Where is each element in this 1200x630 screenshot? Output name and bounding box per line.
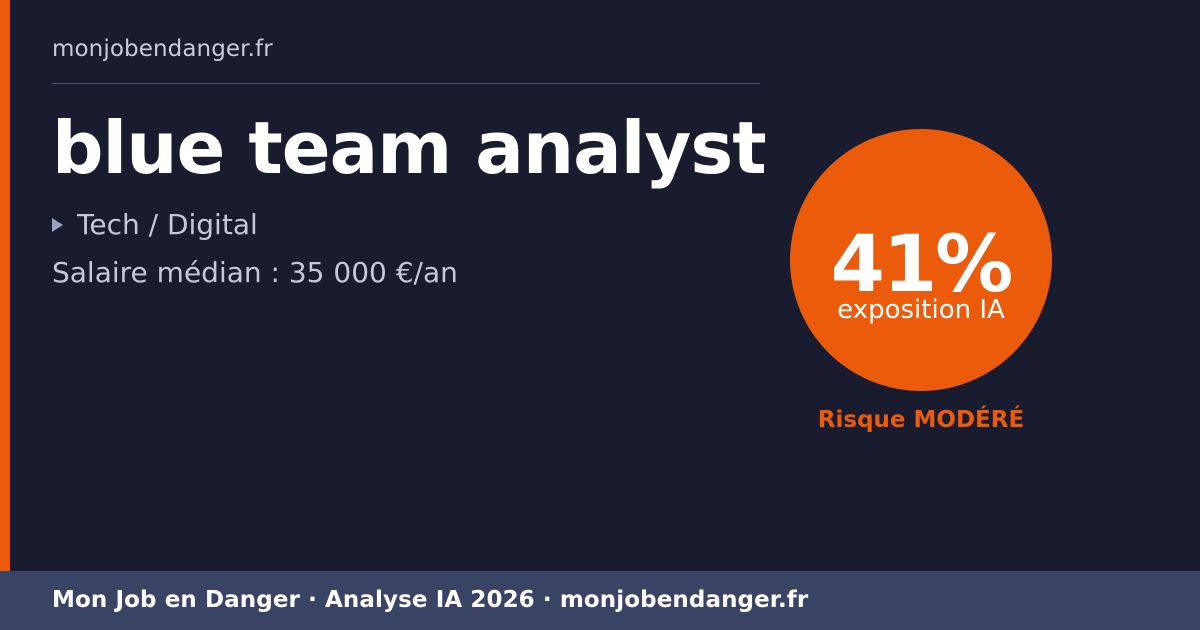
job-sector-label: Tech / Digital xyxy=(77,211,258,239)
card-footer: Mon Job en Danger · Analyse IA 2026 · mo… xyxy=(0,571,1200,630)
risk-percent-caption: exposition IA xyxy=(790,297,1052,323)
left-accent-bar xyxy=(0,0,10,571)
risk-level-badge: Risque MODÉRÉ xyxy=(790,409,1052,432)
caret-right-icon xyxy=(52,218,63,232)
job-sector-row: Tech / Digital xyxy=(52,211,772,239)
risk-percent-value: 41% xyxy=(790,226,1052,304)
risk-gauge-disc: 41% exposition IA xyxy=(790,129,1052,391)
site-domain: monjobendanger.fr xyxy=(52,38,760,61)
footer-credit: Mon Job en Danger · Analyse IA 2026 · mo… xyxy=(52,589,808,612)
share-card: monjobendanger.fr blue team analyst Tech… xyxy=(0,0,1200,630)
header-divider xyxy=(52,83,760,84)
job-summary: blue team analyst Tech / Digital Salaire… xyxy=(52,112,772,287)
job-title: blue team analyst xyxy=(52,112,772,185)
site-header: monjobendanger.fr xyxy=(52,38,760,84)
job-salary: Salaire médian : 35 000 €/an xyxy=(52,259,772,287)
risk-gauge: 41% exposition IA Risque MODÉRÉ xyxy=(790,129,1052,432)
